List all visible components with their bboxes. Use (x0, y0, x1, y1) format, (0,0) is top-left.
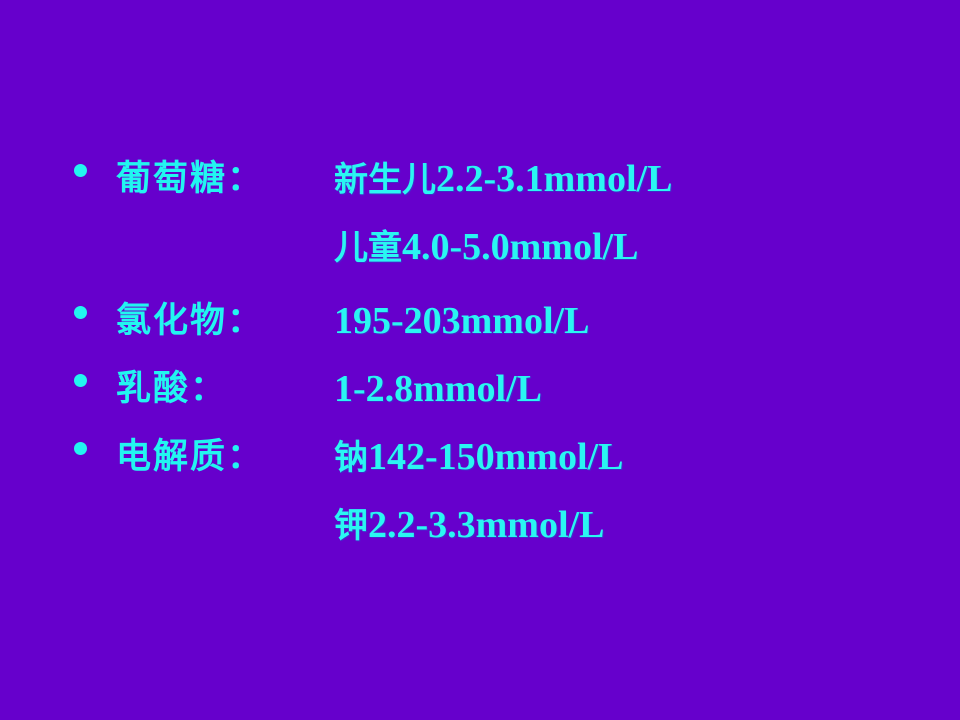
item-value-number: 2.2-3.3mmol/L (368, 504, 604, 546)
item-value-number: 195-203mmol/L (334, 300, 589, 342)
item-value: 钾2.2-3.3mmol/L (334, 492, 904, 559)
list-item: 葡萄糖： 新生儿2.2-3.1mmol/L (74, 146, 904, 214)
item-value-number: 142-150mmol/L (368, 436, 623, 478)
item-value: 儿童4.0-5.0mmol/L (334, 214, 904, 281)
list-item: 氯化物： 195-203mmol/L (74, 288, 904, 356)
bullet-marker (74, 356, 116, 387)
bullet-marker (74, 146, 116, 177)
item-value-cjk: 钠 (334, 438, 368, 478)
list-item: 乳酸： 1-2.8mmol/L (74, 356, 904, 424)
item-value: 195-203mmol/L (334, 288, 904, 355)
item-value: 钠142-150mmol/L (334, 424, 904, 491)
item-value-number: 2.2-3.1mmol/L (436, 158, 672, 200)
list-item-continuation: 儿童4.0-5.0mmol/L (74, 214, 904, 282)
item-value-number: 4.0-5.0mmol/L (402, 226, 638, 268)
item-value-cjk: 钾 (334, 506, 368, 546)
presentation-slide: 葡萄糖： 新生儿2.2-3.1mmol/L 儿童4.0-5.0mmol/L 氯化… (0, 0, 960, 720)
item-label: 乳酸： (116, 356, 334, 422)
item-label: 氯化物： (116, 288, 334, 354)
bullet-dot-icon (74, 306, 87, 319)
list-item-continuation: 钾2.2-3.3mmol/L (74, 492, 904, 560)
bullet-dot-icon (74, 164, 87, 177)
item-value-number: 1-2.8mmol/L (334, 368, 542, 410)
item-value: 新生儿2.2-3.1mmol/L (334, 146, 904, 213)
bullet-dot-icon (74, 442, 87, 455)
item-value-cjk: 新生儿 (334, 160, 436, 200)
item-label: 葡萄糖： (116, 146, 334, 212)
bullet-list: 葡萄糖： 新生儿2.2-3.1mmol/L 儿童4.0-5.0mmol/L 氯化… (74, 146, 904, 560)
item-label: 电解质： (116, 424, 334, 490)
list-item: 电解质： 钠142-150mmol/L (74, 424, 904, 492)
bullet-marker (74, 288, 116, 319)
item-value: 1-2.8mmol/L (334, 356, 904, 423)
item-value-cjk: 儿童 (334, 228, 402, 268)
bullet-marker (74, 424, 116, 455)
bullet-dot-icon (74, 374, 87, 387)
